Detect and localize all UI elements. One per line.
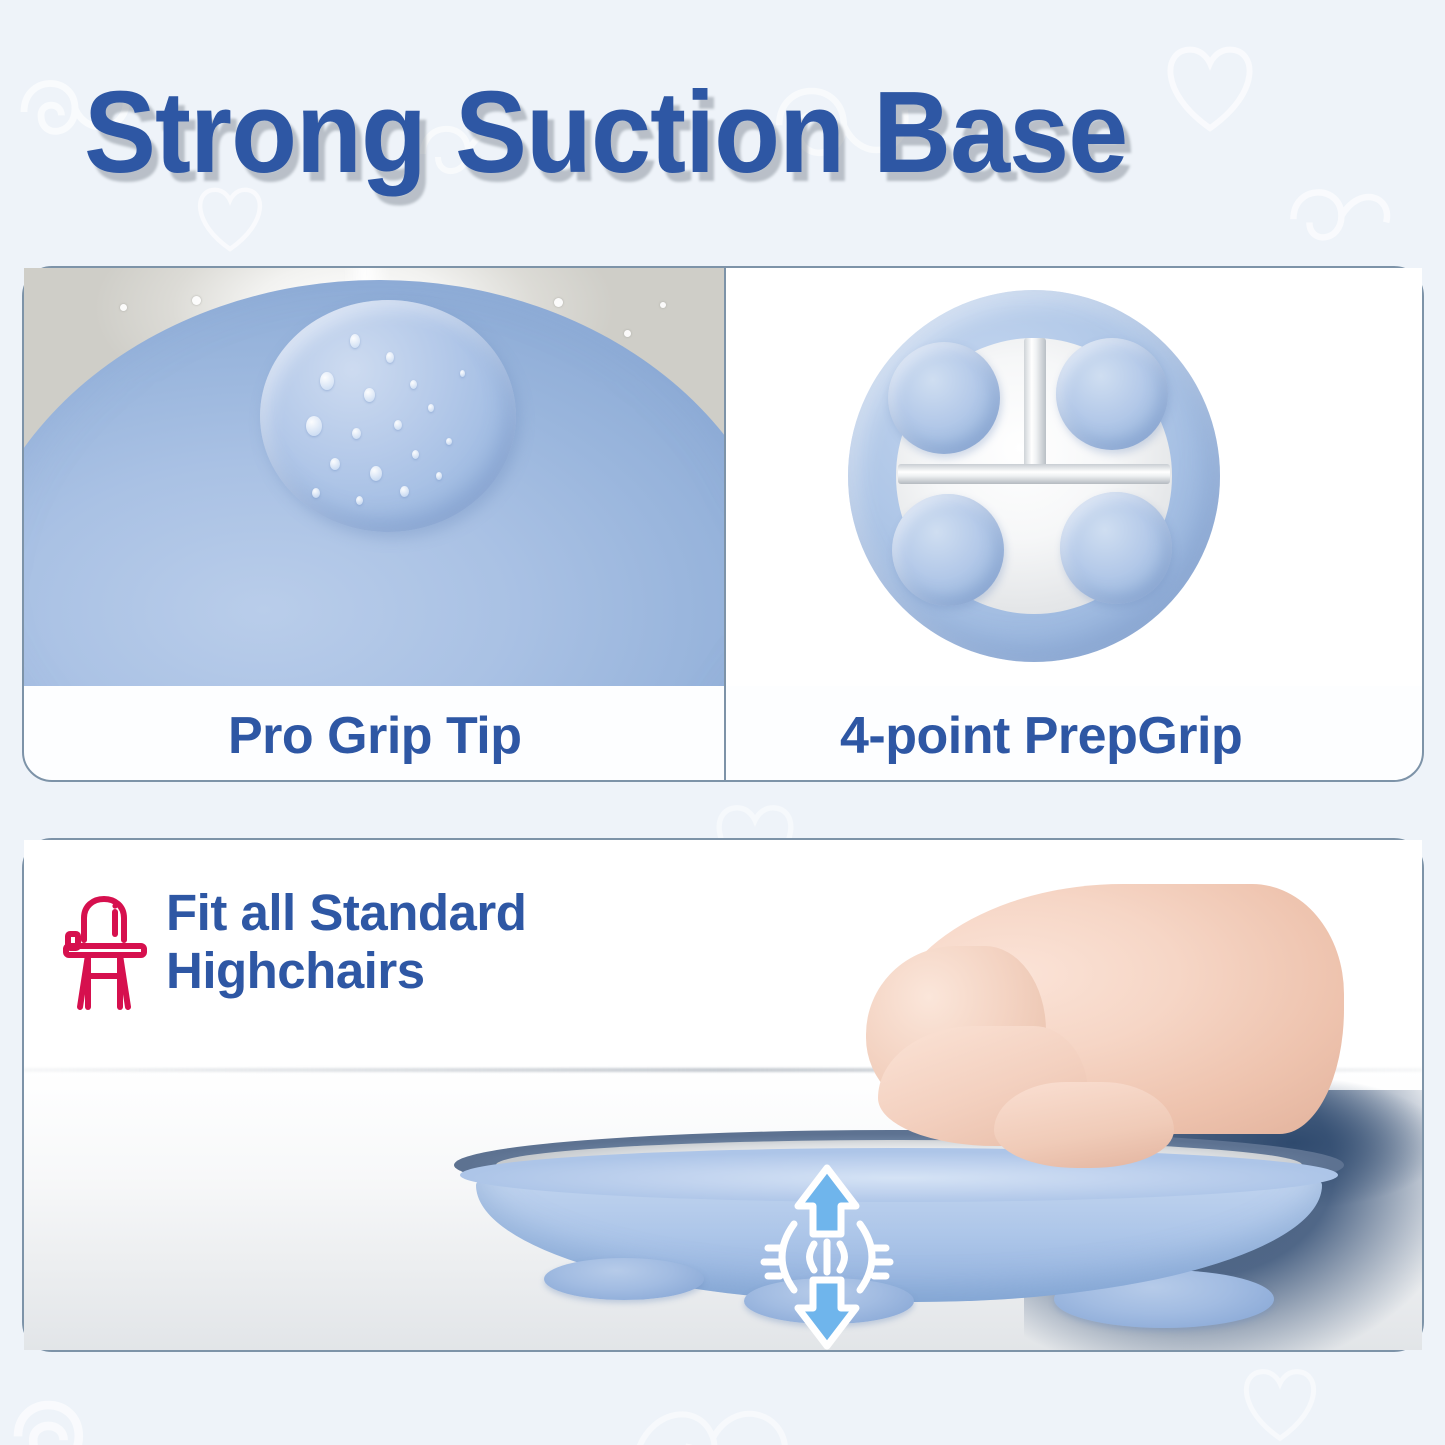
stainless-rib-vertical <box>1024 338 1046 478</box>
hand <box>824 850 1344 1180</box>
stainless-rib-horizontal <box>898 464 1170 484</box>
suction-cup-bottom-left <box>892 494 1004 606</box>
fit-highchairs-label: Fit all Standard Highchairs <box>166 884 526 1000</box>
fit-line-1: Fit all Standard <box>166 884 526 941</box>
suction-cup-left <box>544 1258 704 1300</box>
thumb <box>994 1082 1174 1168</box>
page-title: Strong Suction Base <box>84 60 1127 205</box>
watermark-heart <box>1230 1355 1330 1445</box>
fit-line-2: Highchairs <box>166 942 425 999</box>
suction-cup-bottom-right <box>1060 492 1172 604</box>
caption-four-point-prepgrip: 4-point PrepGrip <box>840 706 1242 766</box>
suction-cup-top-right <box>1056 338 1168 450</box>
caption-pro-grip-tip: Pro Grip Tip <box>228 706 522 766</box>
page-header: Strong Suction Base <box>0 60 1445 210</box>
watermark-swirl <box>620 1360 800 1445</box>
highchair-icon <box>58 894 152 1012</box>
suction-force-arrows <box>752 1162 902 1352</box>
pro-grip-tip-tab <box>260 300 516 532</box>
suction-cup-top-left <box>888 342 1000 454</box>
four-point-prepgrip-photo <box>726 268 1422 686</box>
panel-divider <box>724 268 726 780</box>
pro-grip-tip-photo <box>24 268 724 686</box>
